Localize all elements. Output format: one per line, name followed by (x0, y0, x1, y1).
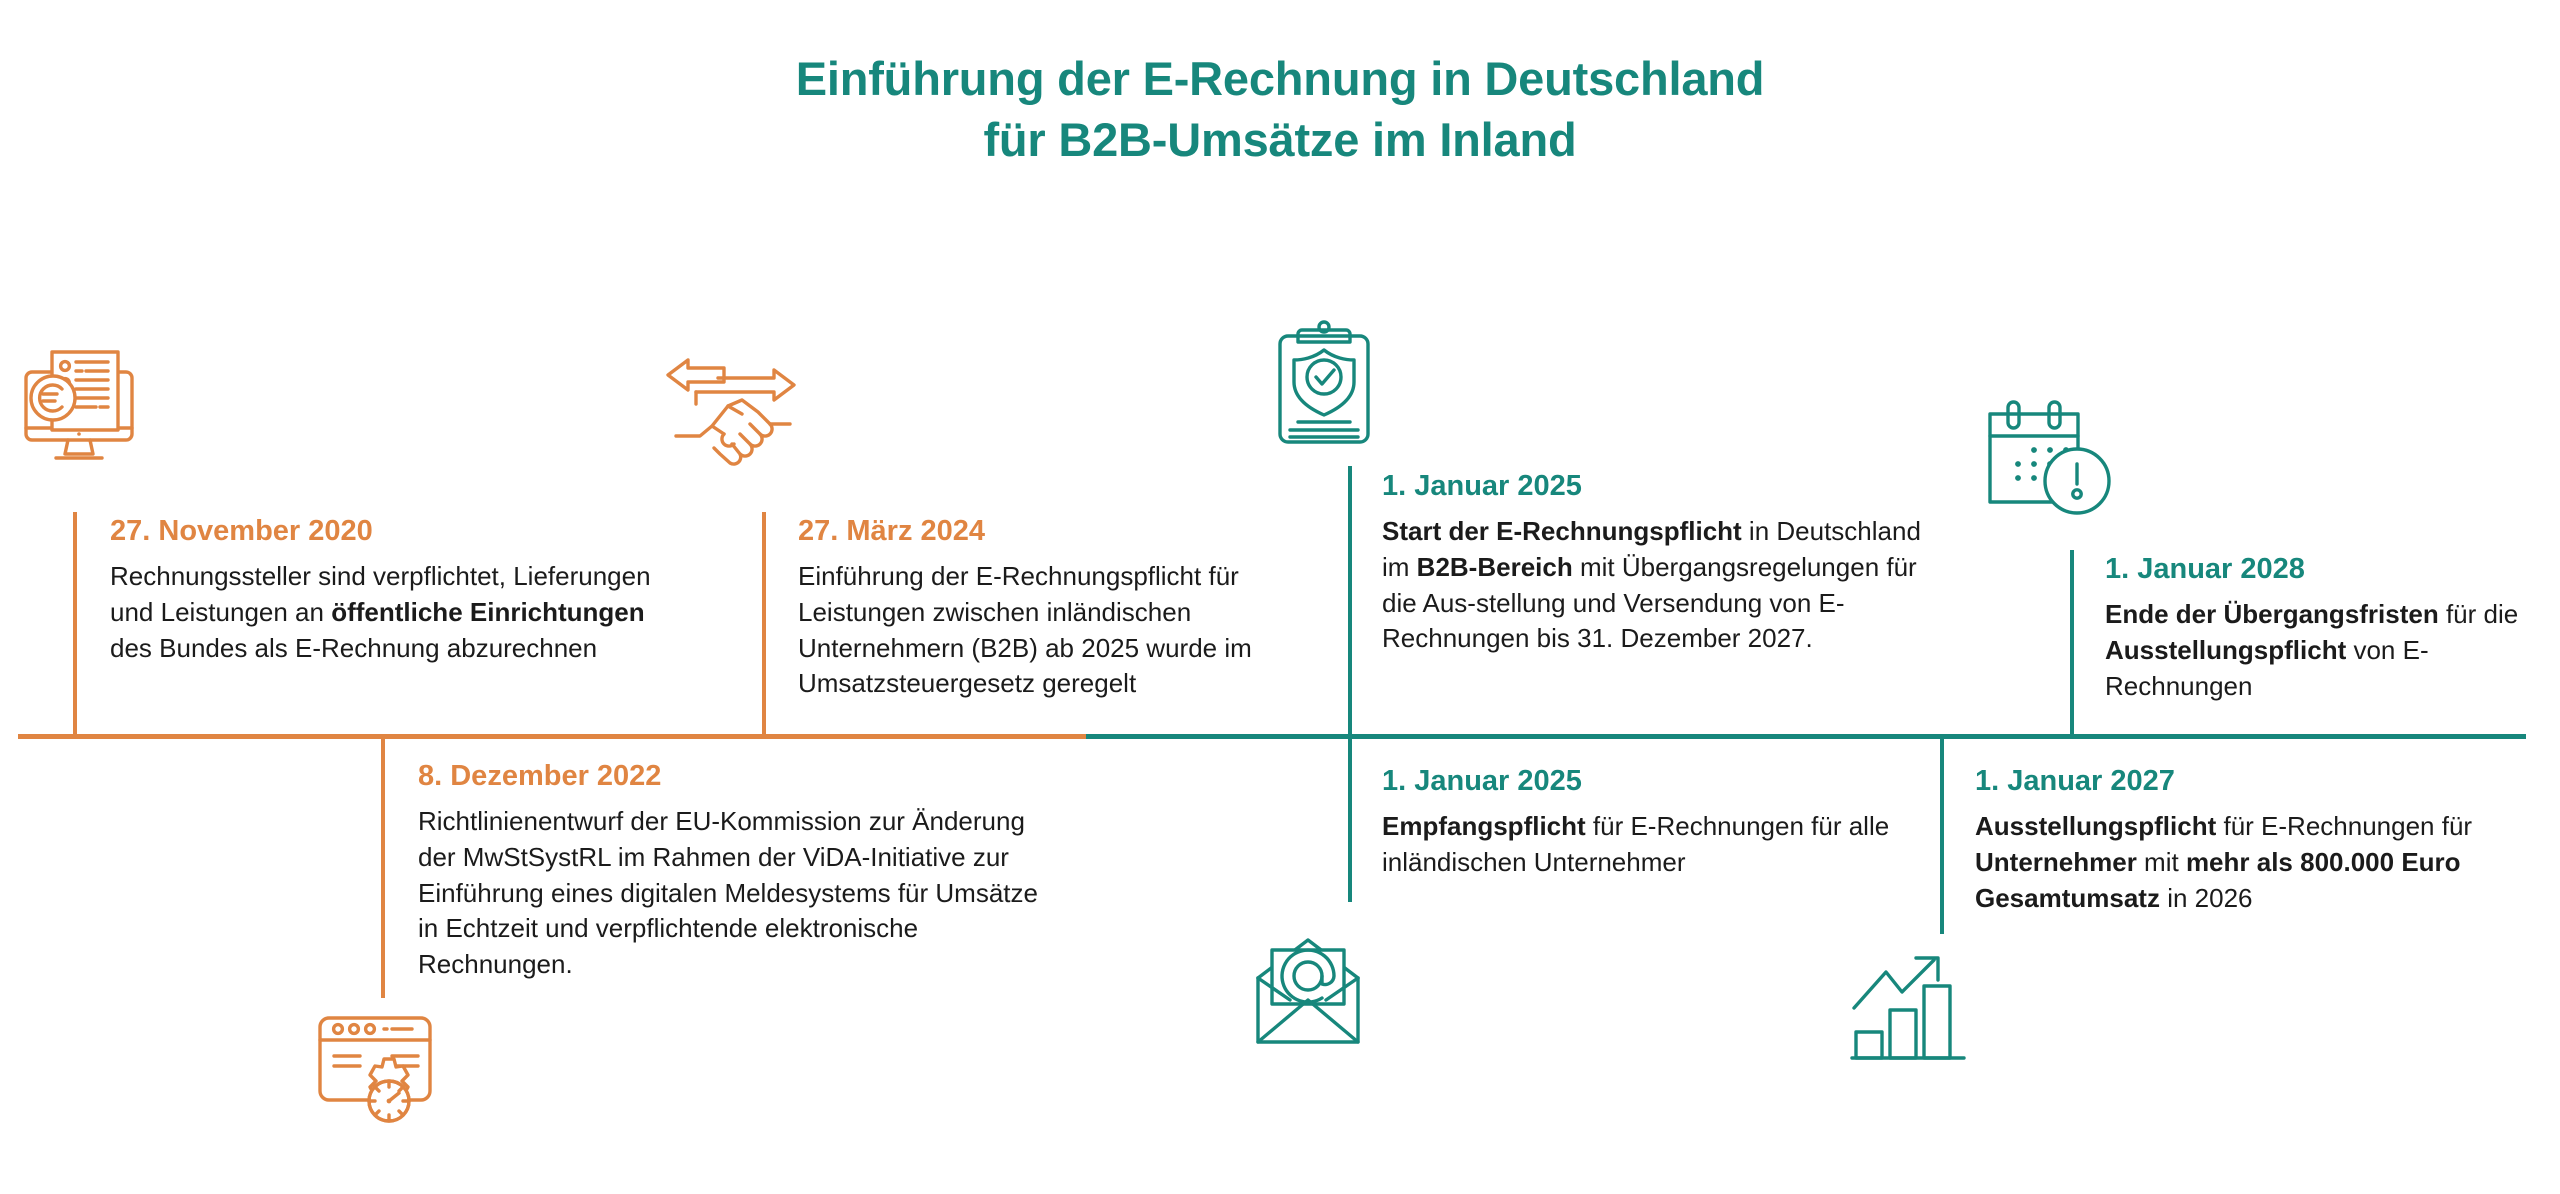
entry-2025-01-01-empfang: 1. Januar 2025 Empfangspflicht für E-Rec… (1382, 765, 1952, 881)
stem-entry-2028 (2070, 550, 2074, 738)
entry-body-emphasis: Unternehmer (1975, 847, 2137, 877)
page-title: Einführung der E-Rechnung in Deutschland… (0, 48, 2560, 170)
entry-body-part: Einführung der E-Rechnungspflicht für Le… (798, 561, 1252, 698)
entry-body: Ausstellungspflicht für E-Rechnungen für… (1975, 809, 2545, 916)
entry-body: Richtlinienentwurf der EU-Kommission zur… (418, 804, 1058, 982)
entry-2027-01-01: 1. Januar 2027 Ausstellungspflicht für E… (1975, 765, 2545, 916)
entry-body-emphasis: Empfangspflicht (1382, 811, 1586, 841)
browser-gear-icon (308, 1008, 458, 1148)
growth-chart-icon (1850, 948, 1980, 1073)
stem-entry-2025-start (1348, 466, 1352, 738)
timeline-axis-orange (18, 734, 1088, 739)
calendar-alert-icon (1972, 396, 2117, 536)
entry-2025-01-01-start: 1. Januar 2025 Start der E-Rechnungspfli… (1382, 470, 1942, 657)
entry-body-part: mit (2137, 847, 2186, 877)
entry-body-part: für die (2439, 599, 2519, 629)
entry-body-part: Richtlinienentwurf der EU-Kommission zur… (418, 806, 1038, 978)
entry-date: 1. Januar 2025 (1382, 470, 1942, 503)
entry-body: Empfangspflicht für E-Rechnungen für all… (1382, 809, 1952, 880)
entry-body-emphasis: Ausstellungspflicht (1975, 811, 2216, 841)
monitor-invoice-euro-icon (8, 340, 158, 490)
timeline-axis-teal (1086, 734, 2526, 739)
entry-body: Ende der Übergangsfristen für die Ausste… (2105, 597, 2545, 704)
entry-date: 1. Januar 2028 (2105, 553, 2545, 586)
entry-date: 27. November 2020 (110, 515, 655, 548)
entry-body: Einführung der E-Rechnungspflicht für Le… (798, 559, 1338, 701)
entry-body-emphasis: Start der E-Rechnungspflicht (1382, 516, 1742, 546)
page-title-line-1: Einführung der E-Rechnung in Deutschland (0, 48, 2560, 109)
entry-body-emphasis: öffentliche Einrichtungen (331, 597, 644, 627)
entry-2020-11-27: 27. November 2020 Rechnungssteller sind … (110, 515, 655, 666)
infographic-canvas: Einführung der E-Rechnung in Deutschland… (0, 0, 2560, 1194)
page-title-line-2: für B2B-Umsätze im Inland (0, 109, 2560, 170)
entry-date: 1. Januar 2027 (1975, 765, 2545, 798)
entry-2028-01-01: 1. Januar 2028 Ende der Übergangsfristen… (2105, 553, 2545, 704)
entry-body: Rechnungssteller sind verpflichtet, Lief… (110, 559, 655, 666)
entry-2024-03-27: 27. März 2024 Einführung der E-Rechnungs… (798, 515, 1338, 702)
entry-date: 8. Dezember 2022 (418, 760, 1058, 793)
handshake-exchange-icon (658, 330, 808, 480)
stem-entry-2025-empfang (1348, 734, 1352, 902)
entry-body-emphasis: Ausstellungspflicht (2105, 635, 2346, 665)
stem-entry-2022 (381, 734, 385, 998)
entry-body-part: für E-Rechnungen für (2216, 811, 2472, 841)
entry-body-part: des Bundes als E-Rechnung abzurechnen (110, 633, 597, 663)
entry-body-emphasis: B2B-Bereich (1417, 552, 1573, 582)
entry-body: Start der E-Rechnungspflicht in Deutschl… (1382, 514, 1942, 656)
stem-entry-2024 (762, 512, 766, 738)
entry-2022-12-08: 8. Dezember 2022 Richtlinienentwurf der … (418, 760, 1058, 982)
envelope-at-icon (1248, 938, 1388, 1063)
entry-date: 1. Januar 2025 (1382, 765, 1952, 798)
entry-date: 27. März 2024 (798, 515, 1338, 548)
entry-body-emphasis: Ende der Übergangsfristen (2105, 599, 2439, 629)
clipboard-shield-check-icon (1268, 318, 1408, 458)
entry-body-part: in 2026 (2160, 883, 2253, 913)
stem-entry-2020 (73, 512, 77, 738)
